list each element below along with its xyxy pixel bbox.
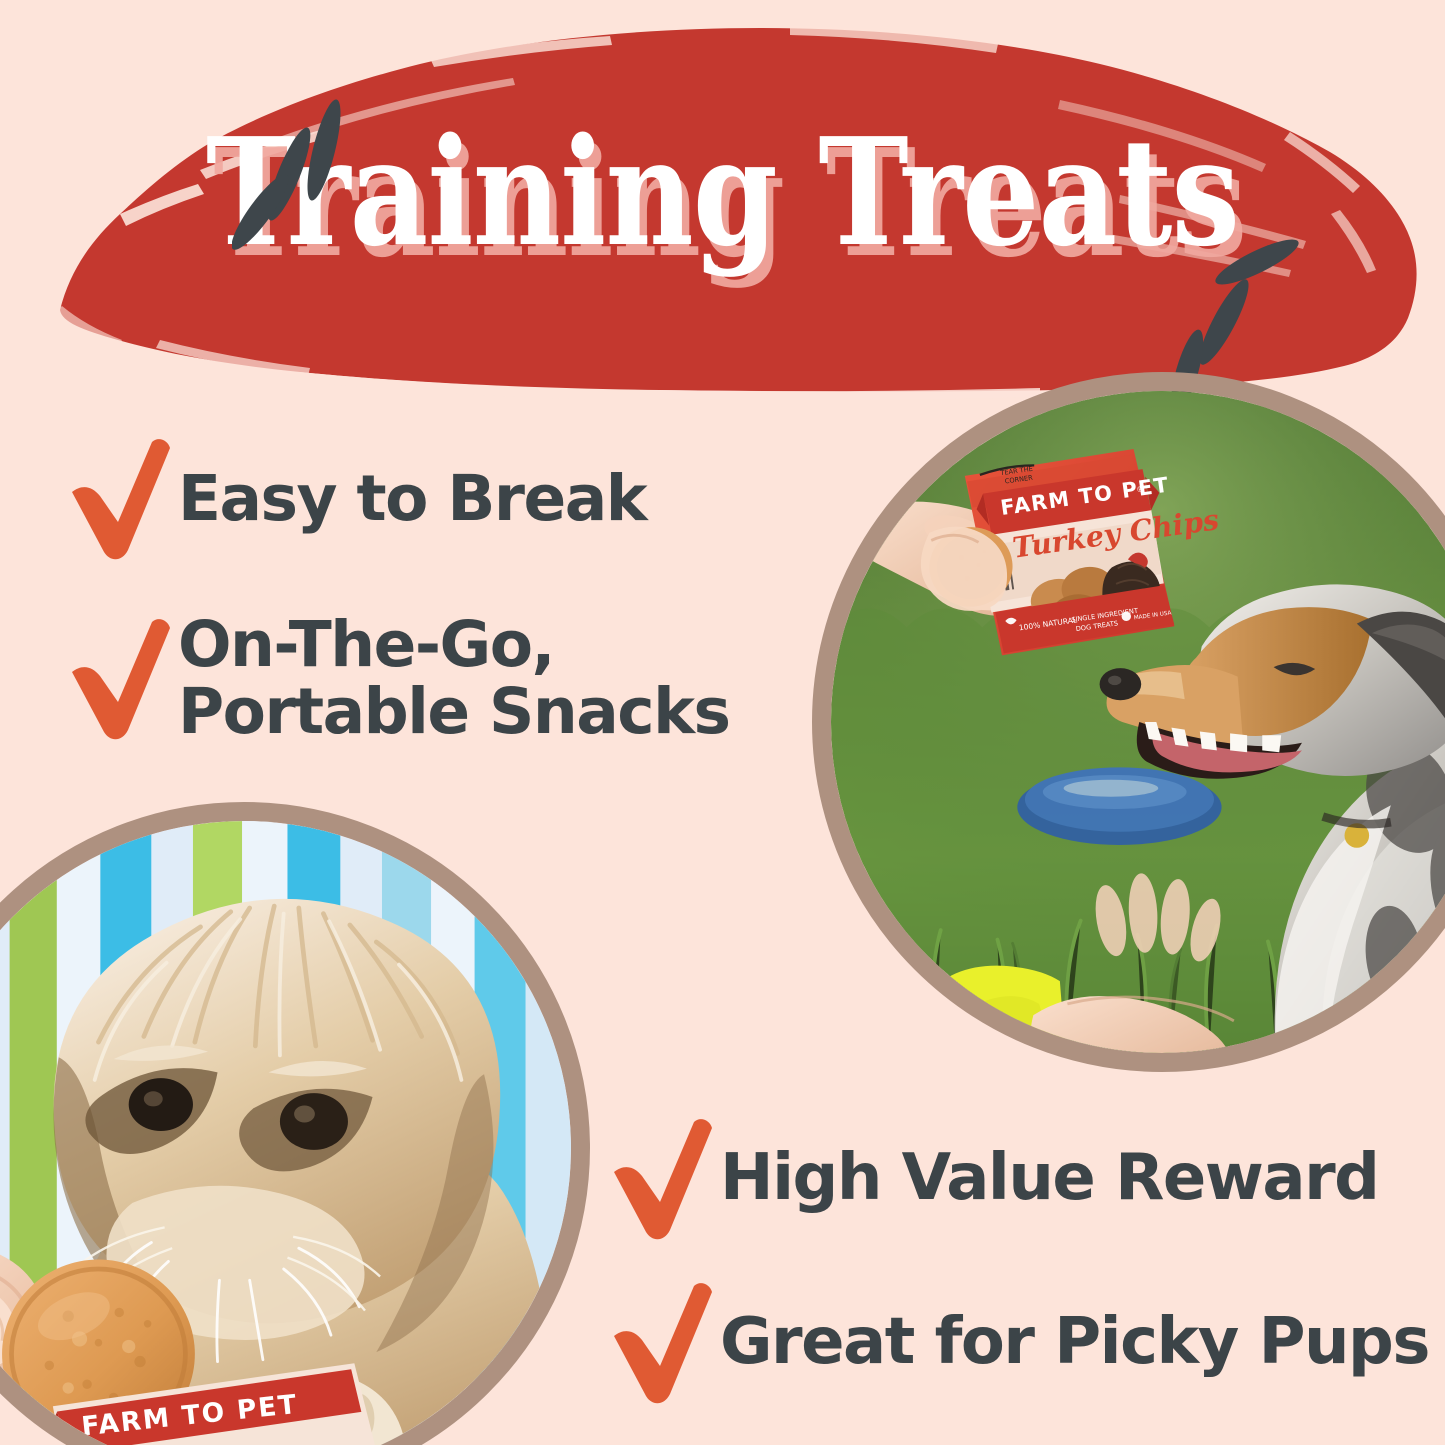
frisbee	[1017, 767, 1221, 845]
feature-label: Great for Picky Pups	[720, 1309, 1429, 1377]
check-icon	[70, 438, 178, 560]
promo-graphic: Training Treats Easy to Break	[0, 0, 1445, 1445]
feature-label: High Value Reward	[720, 1145, 1378, 1213]
feature-label: Easy to Break	[178, 466, 646, 533]
feature-item-picky-pups: Great for Picky Pups	[612, 1282, 1429, 1404]
svg-text:®: ®	[1136, 484, 1145, 494]
check-icon	[70, 618, 178, 740]
feature-item-easy-to-break: Easy to Break	[70, 438, 646, 560]
check-icon	[612, 1118, 720, 1240]
photo-dog-on-grass: TEAR THE CORNER FARM TO PET ® Turkey Chi…	[812, 372, 1445, 1072]
feature-item-high-value-reward: High Value Reward	[612, 1118, 1378, 1240]
photo-puppy-with-treat: FARM TO PET Turkey Chips	[0, 802, 590, 1445]
check-icon	[612, 1282, 720, 1404]
accent-marks-left	[232, 72, 422, 272]
feature-item-on-the-go: On-The-Go, Portable Snacks	[70, 612, 729, 746]
feature-label: On-The-Go, Portable Snacks	[178, 612, 729, 746]
